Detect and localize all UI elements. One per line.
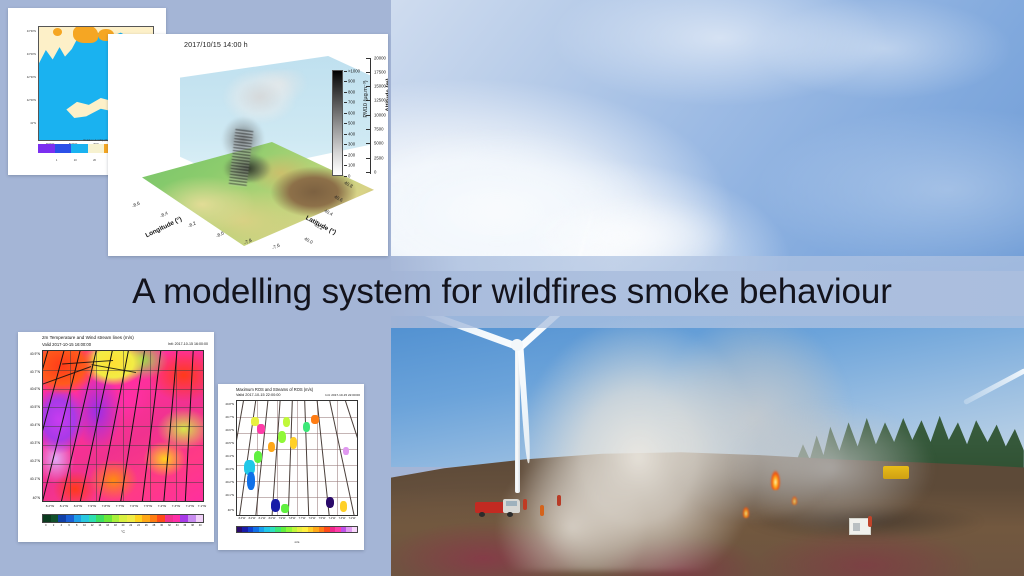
altitude-tick: 12500 [374, 98, 386, 103]
temp-x-tick: 7.9°W [88, 504, 96, 508]
slide-canvas: A modelling system for wildfires smoke b… [0, 0, 1024, 576]
ros-y-tick: 40.8°N [218, 402, 234, 406]
colorbar-tick: 12 [88, 524, 96, 527]
altitude-tick: 5000 [374, 141, 384, 146]
rh-cb-tick: 10 [57, 159, 76, 162]
ros-cell [257, 424, 264, 434]
ros-cell [303, 422, 310, 432]
rh-y-tick: 43°30'N [10, 30, 36, 33]
ros-x-tick: 8.0°W [269, 517, 276, 520]
ros-cell [340, 501, 347, 511]
pm10-smoke-plume-volume [212, 70, 316, 182]
fire-truck-wheel [507, 512, 513, 517]
ros-x-tick: 7.5°W [319, 517, 326, 520]
colorbar-tick: 0 [42, 524, 50, 527]
ros-cell [251, 417, 258, 426]
colorbar-segment [142, 515, 150, 522]
ros-x-tick: 7.2°W [349, 517, 356, 520]
colorbar-segment [51, 515, 59, 522]
fire-truck-wheel [479, 512, 485, 517]
altitude-tick: 7500 [374, 127, 384, 132]
ros-colorbar-unit: m/s [236, 540, 358, 544]
colorbar-segment [66, 515, 74, 522]
colorbar-segment [96, 515, 104, 522]
ros-colorbar [236, 526, 358, 533]
ros-cell [271, 499, 281, 512]
temp-y-tick: 40.2°N [19, 459, 40, 463]
pm10-cb-tick: 100 [348, 163, 355, 168]
rh-high-patch [53, 28, 62, 36]
temp-map-init-time: Init: 2017-10-15 16:00:00 [168, 342, 208, 346]
ros-cell [311, 415, 318, 424]
fire-truck-body [475, 502, 505, 513]
longitude-tick: -8.2 [187, 221, 196, 229]
temp-y-tick: 40°N [19, 496, 40, 500]
colorbar-segment [135, 515, 143, 522]
temp-x-tick: 8.1°W [60, 504, 68, 508]
ros-cell [247, 472, 255, 490]
pm10-cb-tick: 800 [348, 90, 355, 95]
colorbar-tick: 22 [127, 524, 135, 527]
ros-x-tick: 8.2°W [249, 517, 256, 520]
temp-y-tick: 40.3°N [19, 441, 40, 445]
altitude-tick: 17500 [374, 70, 386, 75]
longitude-tick: -8.0 [215, 231, 224, 239]
temp-x-tick: 7.1°W [198, 504, 206, 508]
firefighter [540, 505, 544, 516]
ros-y-tick: 40.7°N [218, 415, 234, 419]
flame-front [742, 503, 750, 518]
temp-x-tick: 7.2°W [186, 504, 194, 508]
colorbar-tick: 40 [196, 524, 204, 527]
temp-y-tick: 40.4°N [19, 423, 40, 427]
colorbar-segment [127, 515, 135, 522]
ros-x-tick: 7.6°W [309, 517, 316, 520]
rh-cb-tick: 20 [77, 159, 96, 162]
temp-y-tick: 40.9°N [19, 352, 40, 356]
firefighter [523, 499, 527, 510]
colorbar-tick: 28 [150, 524, 158, 527]
longitude-tick: -8.6 [131, 201, 140, 209]
longitude-tick: -8.4 [159, 211, 168, 219]
ros-y-tick: 40.5°N [218, 441, 234, 445]
pm10-cb-tick: 600 [348, 111, 355, 116]
colorbar-tick: 6 [65, 524, 73, 527]
ros-y-tick: 40.3°N [218, 467, 234, 471]
colorbar-segment [119, 515, 127, 522]
temp-x-tick: 7.7°W [116, 504, 124, 508]
colorbar-segment [157, 515, 165, 522]
ros-y-tick: 40.6°N [218, 428, 234, 432]
colorbar-tick: 16 [104, 524, 112, 527]
pm10-cb-tick: >1000 [348, 69, 360, 74]
pm10-cb-tick: 900 [348, 79, 355, 84]
temp-map-title: 2m Temperature and Wind stream lines (m/… [42, 335, 134, 340]
ros-y-tick: 40.1°N [218, 493, 234, 497]
colorbar-segment [89, 515, 97, 522]
ros-map-title: Maximum ROS and Streams of ROS (m/s) [236, 387, 313, 392]
yellow-machinery [883, 466, 909, 479]
ros-x-tick: 7.7°W [299, 517, 306, 520]
temp-x-tick: 8.2°W [46, 504, 54, 508]
altitude-axis-line [370, 58, 371, 174]
figure-max-ros-map: Maximum ROS and Streams of ROS (m/s) Val… [218, 384, 364, 550]
ros-map-init-time: Init: 2017-10-15 22:00:00 [325, 393, 360, 397]
colorbar-tick: 18 [111, 524, 119, 527]
rh-y-tick: 41°N [10, 122, 36, 125]
temp-y-tick: 40.5°N [19, 405, 40, 409]
colorbar-tick: 26 [142, 524, 150, 527]
temp-x-tick: 8.0°W [74, 504, 82, 508]
ros-cell [283, 417, 290, 427]
colorbar-segment [74, 515, 82, 522]
ros-y-tick: 40.4°N [218, 454, 234, 458]
wildfire-windfarm-photograph [391, 316, 1024, 576]
pm10-cb-tick: 400 [348, 132, 355, 137]
temp-x-tick: 7.6°W [130, 504, 138, 508]
pm10-timestamp: 2017/10/15 14:00 h [184, 40, 248, 49]
colorbar-tick: 24 [135, 524, 143, 527]
ros-map-valid-time: Valid 2017-10-15 22:00:00 [236, 393, 280, 397]
colorbar-segment [58, 515, 66, 522]
pm10-colorbar [332, 70, 343, 176]
rh-y-tick: 42°30'N [10, 76, 36, 79]
ros-x-tick: 7.4°W [329, 517, 336, 520]
firefighter [868, 516, 872, 527]
colorbar-segment [165, 515, 173, 522]
ros-streamline [304, 400, 309, 516]
temp-y-tick: 40.7°N [19, 370, 40, 374]
colorbar-tick: 36 [181, 524, 189, 527]
pm10-cb-tick: 0 [348, 174, 350, 179]
ros-cell [278, 431, 286, 444]
pm10-colorbar-label: PM10 (µg.m⁻³) [363, 80, 369, 117]
rh-cb-tick: 1 [38, 159, 57, 162]
pm10-cb-tick: 700 [348, 100, 355, 105]
colorbar-segment [196, 515, 204, 522]
colorbar-tick: 30 [158, 524, 166, 527]
ros-x-tick: 8.3°W [239, 517, 246, 520]
colorbar-segment [173, 515, 181, 522]
ros-map-plot-area [236, 400, 358, 516]
ros-x-tick: 8.1°W [259, 517, 266, 520]
colorbar-tick: 10 [81, 524, 89, 527]
latitude-tick: 40.0 [303, 236, 313, 245]
firefighter [557, 495, 561, 506]
colorbar-segment [104, 515, 112, 522]
page-title: A modelling system for wildfires smoke b… [0, 272, 1024, 312]
longitude-tick: -7.6 [271, 243, 280, 251]
colorbar-tick: 4 [57, 524, 65, 527]
wind-streamline [91, 364, 135, 373]
colorbar-tick: 8 [73, 524, 81, 527]
altitude-tick: 15000 [374, 84, 386, 89]
pm10-cb-tick: 300 [348, 142, 355, 147]
temp-x-tick: 7.3°W [172, 504, 180, 508]
ros-cell [281, 504, 288, 513]
colorbar-segment [150, 515, 158, 522]
ros-y-tick: 40.2°N [218, 480, 234, 484]
ros-x-tick: 7.3°W [339, 517, 346, 520]
temp-x-tick: 7.5°W [144, 504, 152, 508]
colorbar-segment [112, 515, 120, 522]
title-band: A modelling system for wildfires smoke b… [0, 256, 1024, 328]
temp-y-tick: 40.1°N [19, 477, 40, 481]
temp-x-tick: 7.4°W [158, 504, 166, 508]
colorbar-segment [43, 515, 51, 522]
altitude-axis-label: Altitude (m) [386, 78, 388, 111]
figure-pm10-3d-plot: 2017/10/15 14:00 h 20000 17500 15000 125… [108, 34, 388, 256]
colorbar-tick: 34 [173, 524, 181, 527]
ros-cell [254, 451, 262, 462]
flame-front [791, 493, 798, 505]
altitude-tick: 2500 [374, 156, 384, 161]
rh-y-tick: 43°00'N [10, 53, 36, 56]
temp-map-valid-time: Valid 2017-10-15 16:00:00 [42, 342, 91, 347]
flame-front [770, 464, 781, 490]
altitude-tick: 20000 [374, 56, 386, 61]
ros-cell [343, 447, 349, 455]
colorbar-segment [81, 515, 89, 522]
wind-streamline [63, 360, 114, 365]
altitude-tick: 10000 [374, 113, 386, 118]
latitude-axis-label: Latitude (°) [304, 215, 337, 237]
colorbar-tick: 32 [166, 524, 174, 527]
colorbar-tick: 2 [50, 524, 58, 527]
ros-cell [326, 497, 334, 508]
ros-y-tick: 40°N [218, 508, 234, 512]
fire-truck [475, 497, 521, 517]
smoke-plume-sky-photograph [391, 0, 1024, 271]
ros-cell [290, 437, 297, 448]
temp-colorbar-unit: °C [42, 530, 204, 534]
colorbar-tick: 14 [96, 524, 104, 527]
temp-colorbar [42, 514, 204, 523]
colorbar-segment [352, 527, 357, 532]
temp-map-plot-area [42, 350, 204, 502]
altitude-tick: 0 [374, 170, 376, 175]
figure-temperature-wind-map: 2m Temperature and Wind stream lines (m/… [18, 332, 214, 542]
temp-x-tick: 7.8°W [102, 504, 110, 508]
colorbar-tick: 20 [119, 524, 127, 527]
ros-x-tick: 7.8°W [289, 517, 296, 520]
pm10-cb-tick: 500 [348, 121, 355, 126]
longitude-axis-label: Longitude (°) [144, 216, 183, 240]
rh-high-patch [73, 26, 98, 43]
fire-truck-windscreen [506, 501, 517, 506]
colorbar-segment [188, 515, 196, 522]
ros-cell [268, 442, 275, 452]
pm10-cb-tick: 200 [348, 153, 355, 158]
colorbar-tick: 38 [189, 524, 197, 527]
temp-colorbar-ticks: 0246810121416182022242628303234363840 [42, 524, 204, 527]
rh-y-tick: 42°00'N [10, 99, 36, 102]
latitude-tick: 40.4 [323, 208, 333, 217]
colorbar-segment [180, 515, 188, 522]
temp-y-tick: 40.6°N [19, 387, 40, 391]
ros-x-tick: 7.9°W [279, 517, 286, 520]
